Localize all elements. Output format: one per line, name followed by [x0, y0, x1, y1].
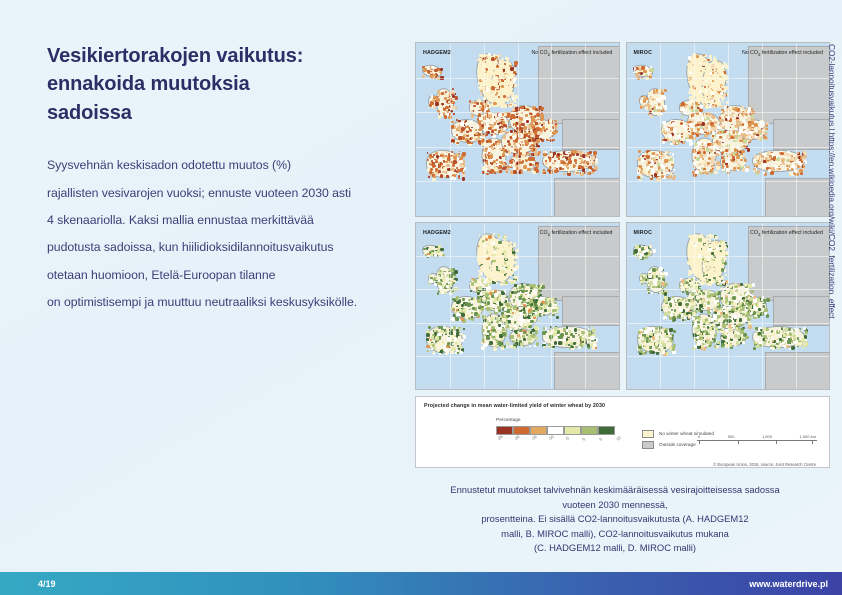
yield-cell — [663, 123, 666, 126]
panel-b-model-label: MIROC — [634, 50, 653, 56]
yield-cell — [437, 342, 441, 346]
yield-cell — [454, 270, 458, 274]
yield-cell — [634, 249, 638, 253]
yield-cell — [733, 140, 735, 142]
yield-cell — [696, 112, 699, 115]
yield-cell — [520, 310, 522, 312]
yield-cell — [527, 320, 529, 322]
yield-cell — [554, 302, 556, 304]
yield-cell — [533, 314, 536, 317]
yield-cell — [491, 83, 493, 85]
yield-cell — [581, 331, 584, 334]
graticule-line — [484, 43, 485, 216]
yield-cell — [466, 128, 469, 131]
yield-cell — [743, 154, 745, 156]
yield-cell — [488, 152, 490, 154]
yield-cell — [487, 105, 489, 107]
yield-cell — [513, 243, 516, 246]
yield-cell — [763, 163, 767, 167]
yield-cell — [746, 120, 748, 122]
yield-cell — [453, 160, 456, 163]
yield-cell — [506, 99, 508, 101]
yield-cell — [491, 336, 493, 338]
yield-cell — [689, 142, 692, 145]
yield-cell — [513, 142, 516, 145]
yield-cell — [513, 136, 516, 139]
yield-cell — [759, 151, 761, 153]
text-column: Vesikiertorakojen vaikutus: ennakoida mu… — [47, 42, 419, 317]
yield-cell — [491, 299, 493, 301]
graticule-line — [551, 43, 552, 216]
yield-cell — [664, 159, 667, 162]
yield-cell — [705, 105, 708, 108]
yield-cell — [426, 338, 428, 340]
yield-cell — [444, 348, 447, 351]
yield-cell — [661, 172, 663, 174]
map-grid: HADGEM2 No CO2 fertilization effect incl… — [415, 42, 830, 390]
yield-cell — [642, 157, 643, 158]
yield-cell — [770, 160, 772, 162]
yield-cell — [705, 92, 709, 96]
yield-cell — [646, 155, 650, 159]
yield-cell — [525, 156, 527, 158]
yield-cell — [783, 163, 785, 165]
yield-cell — [473, 132, 474, 133]
yield-cell — [427, 334, 429, 336]
yield-cell — [641, 159, 644, 162]
yield-cell — [650, 176, 652, 178]
yield-cell — [452, 95, 455, 98]
yield-cell — [714, 57, 716, 59]
yield-cell — [493, 233, 495, 235]
yield-cell — [578, 346, 581, 349]
yield-cell — [745, 168, 749, 172]
yield-cell — [650, 68, 653, 71]
yield-cell — [495, 272, 498, 275]
yield-cell — [797, 152, 799, 154]
yield-cell — [432, 344, 435, 347]
yield-cell — [484, 284, 487, 287]
yield-cell — [509, 65, 511, 67]
yield-cell — [514, 242, 515, 243]
yield-cell — [451, 151, 453, 153]
yield-cell — [685, 133, 688, 136]
yield-cell — [490, 265, 492, 267]
yield-cell — [746, 129, 748, 131]
yield-cell — [689, 107, 692, 110]
yield-cell — [787, 156, 788, 157]
yield-cell — [498, 298, 501, 301]
yield-cell — [539, 298, 541, 300]
yield-cell — [530, 290, 532, 292]
yield-cell — [524, 161, 527, 164]
yield-cell — [509, 86, 512, 89]
yield-cell — [488, 114, 492, 118]
yield-cell — [477, 299, 481, 303]
yield-cell — [511, 115, 515, 119]
title-line-3: sadoissa — [47, 99, 419, 127]
yield-cell — [546, 128, 548, 130]
yield-cell — [523, 331, 526, 334]
yield-cell — [514, 341, 516, 343]
yield-cell — [518, 310, 520, 312]
yield-cell — [591, 336, 595, 340]
yield-cell — [514, 130, 515, 131]
graticule-line — [694, 43, 695, 216]
graticule-line — [728, 43, 729, 216]
yield-cell — [535, 134, 539, 138]
yield-cell — [502, 269, 506, 273]
yield-cell — [749, 122, 752, 125]
yield-cell — [788, 159, 791, 162]
yield-cell — [640, 106, 642, 108]
yield-cell — [502, 328, 505, 331]
body-line-2: rajallisten vesivarojen vuoksi; ennuste … — [47, 180, 419, 207]
yield-cell — [773, 156, 776, 159]
yield-cell — [456, 313, 459, 316]
graticule-line — [796, 43, 797, 216]
body-line-3: 4 skenaariolla. Kaksi mallia ennustaa me… — [47, 207, 419, 234]
yield-cell — [459, 165, 461, 167]
yield-cell — [733, 169, 735, 171]
yield-cell — [501, 291, 504, 294]
yield-cell — [675, 138, 677, 140]
yield-cell — [751, 115, 754, 118]
yield-cell — [494, 172, 496, 174]
yield-cell — [707, 122, 710, 125]
yield-cell — [463, 328, 465, 330]
yield-cell — [498, 119, 500, 121]
yield-cell — [535, 286, 538, 289]
yield-cell — [500, 161, 502, 163]
yield-cell — [443, 272, 445, 274]
yield-cell — [681, 115, 683, 117]
yield-cell — [778, 168, 781, 171]
yield-cell — [525, 164, 527, 166]
graticule-line — [450, 43, 451, 216]
yield-cell — [427, 71, 429, 73]
yield-cell — [566, 166, 568, 168]
yield-cell — [477, 296, 480, 299]
yield-cell — [486, 307, 490, 311]
yield-cell — [699, 172, 702, 175]
yield-cell — [469, 100, 471, 102]
map-panel-d: MIROC CO2 fertilization effect included — [626, 222, 831, 390]
yield-cell — [422, 66, 424, 68]
yield-cell — [502, 147, 504, 149]
yield-cell — [497, 234, 500, 237]
yield-cell — [582, 151, 585, 154]
yield-cell — [440, 248, 443, 251]
yield-cell — [487, 301, 491, 305]
yield-cell — [446, 176, 448, 178]
yield-cell — [543, 172, 545, 174]
yield-cell — [507, 148, 509, 150]
graticule-line — [660, 43, 661, 216]
yield-cell — [456, 329, 459, 332]
map-panel-a: HADGEM2 No CO2 fertilization effect incl… — [415, 42, 620, 217]
yield-cell — [698, 169, 700, 171]
yield-cell — [643, 169, 645, 171]
yield-cell — [525, 297, 527, 299]
yield-cell — [697, 132, 699, 134]
yield-cell — [714, 81, 718, 85]
yield-cell — [499, 170, 502, 173]
yield-cell — [476, 290, 477, 291]
yield-cell — [641, 176, 643, 178]
yield-cell — [455, 310, 456, 311]
panel-a-model-label: HADGEM2 — [423, 50, 451, 56]
yield-cell — [681, 102, 685, 106]
yield-cell — [515, 296, 517, 298]
yield-cell — [531, 153, 533, 155]
outside-coverage-area — [554, 178, 619, 217]
yield-cell — [647, 69, 648, 70]
yield-cell — [512, 251, 515, 254]
yield-cell — [694, 244, 696, 246]
yield-cell — [689, 114, 691, 116]
yield-cell — [505, 245, 506, 246]
yield-cell — [650, 163, 653, 166]
yield-cell — [487, 89, 490, 92]
yield-cell — [471, 312, 473, 314]
yield-cell — [754, 123, 758, 127]
yield-cell — [669, 138, 671, 140]
yield-cell — [701, 56, 703, 58]
yield-cell — [553, 139, 555, 141]
yield-cell — [536, 113, 540, 117]
yield-cell — [763, 172, 765, 174]
yield-cell — [431, 95, 433, 97]
yield-cell — [499, 90, 501, 92]
yield-cell — [439, 109, 440, 110]
yield-cell — [651, 169, 654, 172]
yield-cell — [700, 126, 702, 128]
yield-cell — [512, 312, 514, 314]
yield-cell — [494, 290, 497, 293]
yield-cell — [650, 103, 653, 106]
graticule-line — [484, 223, 485, 389]
yield-cell — [433, 347, 436, 350]
yield-cell — [506, 90, 509, 93]
yield-cell — [688, 56, 691, 59]
yield-cell — [565, 332, 568, 335]
yield-cell — [429, 154, 432, 157]
yield-cell — [680, 139, 682, 141]
yield-cell — [513, 346, 516, 349]
yield-cell — [437, 349, 440, 352]
yield-cell — [713, 67, 715, 69]
yield-cell — [743, 139, 747, 143]
yield-cell — [738, 136, 741, 139]
yield-cell — [429, 104, 432, 107]
yield-cell — [521, 345, 523, 347]
yield-cell — [574, 159, 577, 162]
yield-cell — [528, 157, 532, 161]
yield-cell — [454, 177, 456, 179]
yield-cell — [678, 125, 681, 128]
yield-cell — [717, 105, 719, 107]
yield-cell — [592, 162, 595, 165]
yield-cell — [457, 318, 460, 321]
yield-cell — [498, 294, 501, 297]
yield-cell — [554, 327, 558, 331]
yield-cell — [722, 166, 724, 168]
yield-cell — [504, 345, 506, 347]
yield-cell — [466, 133, 468, 135]
page-title: Vesikiertorakojen vaikutus: ennakoida mu… — [47, 42, 419, 127]
yield-cell — [508, 151, 512, 155]
yield-cell — [423, 68, 427, 72]
yield-cell — [545, 298, 547, 300]
yield-cell — [531, 124, 534, 127]
yield-cell — [520, 106, 523, 109]
yield-cell — [523, 127, 526, 130]
yield-cell — [588, 346, 591, 349]
yield-cell — [704, 98, 706, 100]
yield-cell — [534, 152, 538, 156]
yield-cell — [554, 160, 556, 162]
yield-cell — [556, 165, 559, 168]
yield-cell — [508, 273, 510, 275]
yield-cell — [486, 101, 488, 103]
map-panel-c: HADGEM2 CO2 fertilization effect include… — [415, 222, 620, 390]
yield-cell — [458, 136, 462, 140]
yield-cell — [572, 335, 575, 338]
yield-cell — [646, 249, 649, 252]
yield-cell — [574, 328, 578, 332]
yield-cell — [717, 101, 720, 104]
yield-cell — [723, 131, 725, 133]
yield-cell — [530, 299, 533, 302]
outside-coverage-area — [773, 296, 830, 326]
yield-cell — [502, 101, 505, 104]
graticule-line — [585, 223, 586, 389]
yield-cell — [502, 121, 504, 123]
yield-cell — [501, 85, 504, 88]
yield-cell — [537, 292, 540, 295]
yield-cell — [513, 71, 516, 74]
yield-cell — [447, 351, 449, 353]
graticule-line — [762, 43, 763, 216]
yield-cell — [496, 99, 499, 102]
yield-cell — [461, 339, 464, 342]
yield-cell — [595, 161, 598, 164]
yield-cell — [463, 131, 465, 133]
yield-cell — [504, 236, 506, 238]
yield-cell — [696, 272, 699, 275]
yield-cell — [587, 163, 589, 165]
yield-cell — [446, 151, 448, 153]
yield-cell — [499, 249, 502, 252]
yield-cell — [746, 106, 747, 107]
yield-cell — [710, 75, 712, 77]
yield-cell — [672, 122, 675, 125]
yield-cell — [452, 106, 455, 109]
yield-cell — [687, 63, 690, 66]
yield-cell — [507, 78, 511, 82]
yield-cell — [504, 73, 506, 75]
yield-cell — [428, 176, 430, 178]
yield-cell — [706, 132, 709, 135]
yield-cell — [474, 279, 478, 283]
yield-cell — [500, 95, 502, 97]
outside-coverage-area — [765, 352, 830, 390]
yield-cell — [529, 292, 531, 294]
yield-cell — [591, 156, 595, 160]
yield-cell — [487, 247, 489, 249]
yield-cell — [433, 351, 435, 353]
yield-cell — [722, 98, 724, 100]
yield-cell — [502, 332, 506, 336]
outside-coverage-area — [562, 296, 619, 326]
yield-cell — [541, 124, 543, 126]
yield-cell — [552, 346, 554, 348]
yield-cell — [488, 100, 490, 102]
yield-cell — [456, 134, 458, 136]
yield-cell — [737, 169, 739, 171]
yield-cell — [720, 64, 723, 67]
yield-cell — [521, 130, 523, 132]
yield-cell — [469, 129, 472, 132]
yield-cell — [804, 160, 806, 162]
yield-cell — [673, 169, 675, 171]
yield-cell — [661, 125, 663, 127]
yield-cell — [479, 127, 483, 131]
yield-cell — [742, 166, 744, 168]
yield-cell — [556, 316, 559, 319]
yield-cell — [708, 68, 712, 72]
yield-cell — [651, 116, 653, 118]
yield-cell — [557, 153, 560, 156]
yield-cell — [697, 74, 699, 76]
yield-cell — [432, 250, 433, 251]
yield-cell — [561, 154, 562, 155]
yield-cell — [716, 166, 720, 170]
yield-cell — [457, 142, 459, 144]
yield-cell — [489, 79, 492, 82]
yield-cell — [580, 155, 582, 157]
yield-cell — [445, 160, 448, 163]
yield-cell — [673, 141, 675, 143]
yield-cell — [536, 139, 539, 142]
yield-cell — [499, 60, 503, 64]
yield-cell — [510, 281, 514, 285]
yield-cell — [468, 299, 471, 302]
yield-cell — [500, 80, 502, 82]
yield-cell — [566, 156, 567, 157]
yield-cell — [529, 163, 532, 166]
yield-cell — [458, 348, 460, 350]
yield-cell — [532, 171, 536, 175]
yield-cell — [729, 115, 730, 116]
yield-cell — [487, 269, 490, 272]
yield-cell — [788, 154, 790, 156]
yield-cell — [543, 346, 544, 347]
yield-cell — [757, 126, 759, 128]
yield-cell — [495, 333, 499, 337]
yield-cell — [707, 162, 708, 163]
yield-cell — [433, 175, 436, 178]
yield-cell — [442, 334, 443, 335]
yield-cell — [500, 283, 503, 286]
yield-cell — [514, 65, 516, 67]
yield-cell — [643, 99, 646, 102]
yield-cell — [702, 81, 706, 85]
yield-cell — [526, 120, 529, 123]
yield-cell — [480, 297, 482, 299]
yield-cell — [747, 117, 751, 121]
